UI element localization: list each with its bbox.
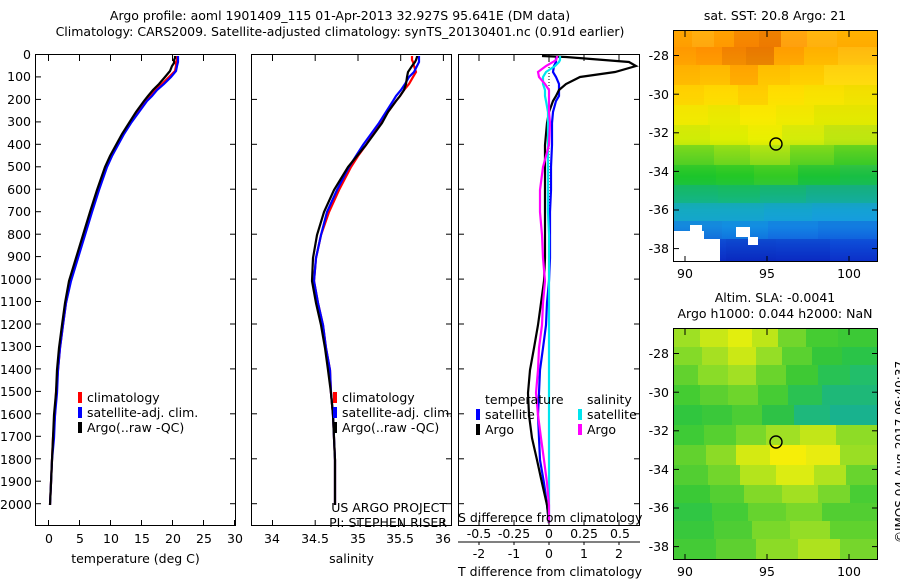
xtick-s-355: 35.5 [380,531,420,546]
legend-swatch-satellite-adj-icon [78,407,82,418]
legend-label-temp-argo: Argo [485,422,514,437]
legend-swatch-temp-argo-icon [476,424,480,435]
temperature-axis-ticks [35,54,237,528]
ytick-500: 500 [0,159,31,174]
xtick-t-zero: 0 [529,546,569,561]
legend-item-salinity-satellite-adj: satellite-adj. clim. [333,405,453,420]
xtick-t-2: 2 [599,546,639,561]
legend-item-temp-argo: Argo [476,422,564,437]
ytick-100: 100 [0,69,31,84]
sst-xtick-90: 90 [665,266,705,281]
sla-map-axis-ticks [673,328,879,562]
difference-salinity-legend: salinity satellite Argo [578,392,637,437]
legend-swatch-satellite-adj-icon [333,407,337,418]
ytick-1100: 1100 [0,294,31,309]
ytick-900: 900 [0,249,31,264]
legend-label-argo: Argo(..raw -QC) [87,420,184,435]
legend-heading-temperature-label: temperature [485,392,564,407]
sst-map-axis-ticks [673,30,879,264]
ytick-200: 200 [0,92,31,107]
sst-ytick--36: -36 [636,202,669,217]
sla-xtick-95: 95 [747,564,787,579]
ytick-1600: 1600 [0,407,31,422]
salinity-axis-ticks [251,54,453,528]
ytick-0: 0 [0,47,31,62]
legend-heading-temperature: temperature [476,392,564,407]
ytick-800: 800 [0,227,31,242]
legend-item-sal-argo: Argo [578,422,637,437]
ytick-400: 400 [0,137,31,152]
sla-ytick--28: -28 [636,346,669,361]
legend-item-salinity-climatology: climatology [333,390,453,405]
legend-swatch-sal-argo-icon [578,424,582,435]
ytick-1500: 1500 [0,384,31,399]
legend-swatch-argo-icon [78,422,82,433]
difference-t-axis-label: T difference from climatology [458,564,640,579]
sst-ytick--38: -38 [636,241,669,256]
xtick-s-36: 36 [423,531,463,546]
project-credit: US ARGO PROJECT PI: STEPHEN RISER [255,500,447,530]
sla-ytick--32: -32 [636,423,669,438]
ytick-1000: 1000 [0,272,31,287]
sla-ytick--38: -38 [636,539,669,554]
sst-ytick--28: -28 [636,48,669,63]
imos-copyright: ©IMOS 04-Aug-2017 06:40:37 [893,361,900,543]
xtick-t-neg2: -2 [459,546,499,561]
ytick-700: 700 [0,204,31,219]
argo-profile-figure: Argo profile: aoml 1901409_115 01-Apr-20… [0,0,900,580]
legend-label-satellite-adj: satellite-adj. clim. [87,405,198,420]
figure-title-line1: Argo profile: aoml 1901409_115 01-Apr-20… [0,8,680,23]
sla-xtick-90: 90 [665,564,705,579]
sla-map-title-line1: Altim. SLA: -0.0041 [660,290,890,305]
xtick-t-1: 1 [564,546,604,561]
ytick-1900: 1900 [0,474,31,489]
legend-swatch-temp-satellite-icon [476,409,480,420]
sst-ytick--30: -30 [636,87,669,102]
sst-map-title: sat. SST: 20.8 Argo: 21 [660,8,890,23]
sla-ytick--36: -36 [636,500,669,515]
legend-label-salinity-climatology: climatology [342,390,415,405]
ytick-2000: 2000 [0,497,31,512]
temperature-legend: climatology satellite-adj. clim. Argo(..… [78,390,198,435]
legend-label-sal-argo: Argo [587,422,616,437]
ytick-1200: 1200 [0,317,31,332]
legend-item-satellite-adj: satellite-adj. clim. [78,405,198,420]
sst-ytick--32: -32 [636,125,669,140]
legend-item-argo: Argo(..raw -QC) [78,420,198,435]
difference-axis-separator [458,541,641,545]
temperature-x-axis-label: temperature (deg C) [35,551,236,566]
xtick-s-05: 0.5 [600,526,640,541]
difference-temperature-legend: temperature satellite Argo [476,392,564,437]
xtick-s-35: 35 [338,531,378,546]
legend-label-salinity-argo: Argo(..raw -QC) [342,420,439,435]
legend-swatch-sal-satellite-icon [578,409,582,420]
legend-label-climatology: climatology [87,390,160,405]
figure-title-line2: Climatology: CARS2009. Satellite-adjuste… [0,24,680,39]
ytick-1400: 1400 [0,362,31,377]
legend-swatch-climatology-icon [333,392,337,403]
legend-item-climatology: climatology [78,390,198,405]
legend-item-temp-satellite: satellite [476,407,564,422]
salinity-legend: climatology satellite-adj. clim. Argo(..… [333,390,453,435]
legend-heading-salinity-label: salinity [587,392,632,407]
legend-swatch-argo-icon [333,422,337,433]
ytick-1800: 1800 [0,452,31,467]
legend-heading-salinity: salinity [578,392,637,407]
difference-axis-ticks [458,54,641,528]
legend-swatch-climatology-icon [78,392,82,403]
project-credit-line1: US ARGO PROJECT [255,500,447,515]
legend-label-temp-satellite: satellite [485,407,535,422]
xtick-s-345: 34.5 [295,531,335,546]
xtick-t-30: 30 [215,531,255,546]
sst-xtick-100: 100 [829,266,869,281]
legend-label-sal-satellite: satellite [587,407,637,422]
ytick-600: 600 [0,182,31,197]
xtick-t-neg1: -1 [494,546,534,561]
sst-ytick--34: -34 [636,164,669,179]
difference-s-axis-label: S difference from climatology [458,510,640,525]
sla-map-title-line2: Argo h1000: 0.044 h2000: NaN [655,306,895,321]
sst-xtick-95: 95 [747,266,787,281]
xtick-s-34: 34 [252,531,292,546]
sla-ytick--30: -30 [636,385,669,400]
legend-label-salinity-satellite-adj: satellite-adj. clim. [342,405,453,420]
ytick-300: 300 [0,114,31,129]
project-credit-line2: PI: STEPHEN RISER [255,515,447,530]
ytick-1700: 1700 [0,429,31,444]
legend-item-sal-satellite: satellite [578,407,637,422]
ytick-1300: 1300 [0,339,31,354]
salinity-x-axis-label: salinity [251,551,452,566]
legend-item-salinity-argo: Argo(..raw -QC) [333,420,453,435]
sla-xtick-100: 100 [829,564,869,579]
sla-ytick--34: -34 [636,462,669,477]
